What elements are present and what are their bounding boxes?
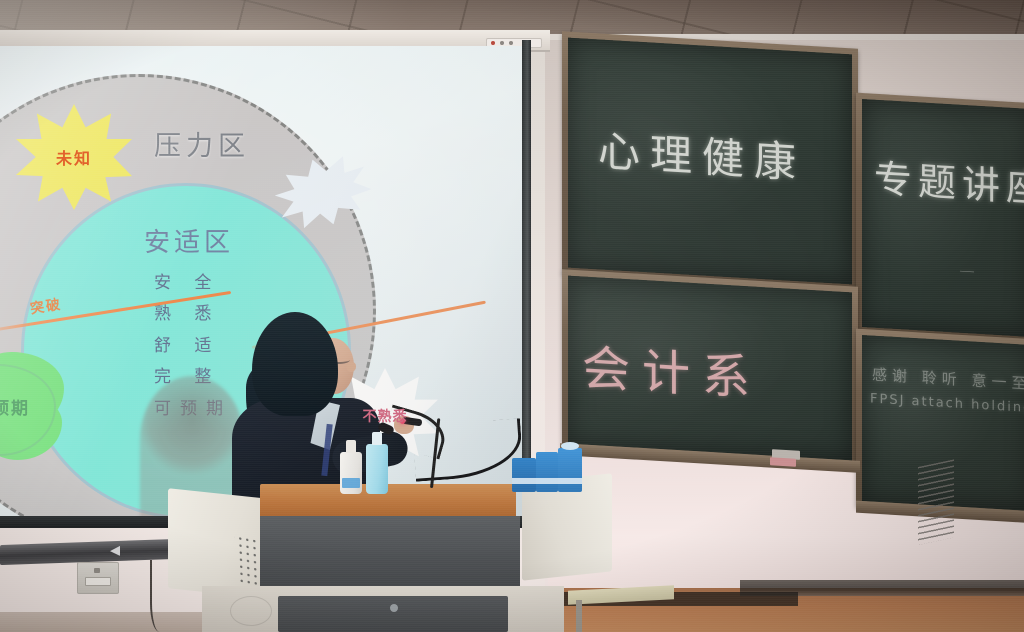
chalk-text-mental-health: 心理健康 bbox=[598, 117, 806, 190]
box-stripe bbox=[536, 478, 558, 484]
screen-right-border bbox=[522, 40, 531, 524]
lectern-drawer[interactable] bbox=[278, 596, 508, 632]
lectern-emblem bbox=[230, 596, 272, 626]
blackboard-bottom-left: 会计系 bbox=[568, 276, 852, 461]
blackboard-top-right: 专题讲座 ＿ bbox=[862, 99, 1024, 337]
blackboard-top-left: 心理健康 bbox=[568, 38, 852, 285]
star-unknown-label: 未知 bbox=[56, 145, 92, 169]
box-stripe bbox=[558, 478, 582, 484]
power-indicator-icon bbox=[491, 41, 495, 45]
chalk-piece[interactable] bbox=[770, 457, 796, 467]
outlet-switch-icon bbox=[94, 568, 100, 573]
outlet-socket-icon bbox=[85, 577, 111, 586]
lectern-front-panel bbox=[260, 516, 520, 588]
lectern bbox=[144, 470, 624, 632]
wipe-box-3[interactable] bbox=[558, 448, 582, 492]
classroom-scene: 压力区 安适区 安 全 熟 悉 舒 适 完 整 可预期 未知 不熟悉 bbox=[0, 0, 1024, 632]
lectern-wood-top bbox=[260, 484, 516, 518]
chalk-text-accounting-department: 会计系 bbox=[582, 328, 762, 409]
stress-zone-label: 压力区 bbox=[154, 124, 250, 163]
bottle-cap-icon bbox=[372, 432, 382, 445]
chalk-faint-line-2: FPSJ attach holding bbox=[870, 391, 1024, 416]
chalk-text-special-lecture: 专题讲座 bbox=[874, 148, 1024, 213]
vent-grille-icon bbox=[918, 459, 954, 545]
cloud-label: 可能 预期 bbox=[0, 397, 30, 423]
wipe-box-1[interactable] bbox=[512, 458, 536, 492]
sanitizer-bottle-blue[interactable] bbox=[366, 444, 388, 494]
up-indicator-icon bbox=[500, 41, 504, 45]
wall-outlet-panel[interactable] bbox=[77, 562, 119, 594]
chalk-faint-line-1: 感谢 聆听 意一至 bbox=[872, 364, 1024, 394]
hair bbox=[252, 312, 338, 416]
sanitizer-bottle-white[interactable] bbox=[340, 452, 362, 494]
wipe-box-2[interactable] bbox=[536, 452, 558, 492]
drawer-lock-icon[interactable] bbox=[390, 604, 398, 612]
bottle-label bbox=[342, 478, 360, 488]
starburst-unknown: 未知 bbox=[16, 104, 132, 210]
bottle-cap-icon bbox=[346, 440, 356, 453]
box-stripe bbox=[512, 478, 536, 484]
comfort-zone-label: 安适区 bbox=[144, 222, 234, 259]
chalk-underline-mark: ＿ bbox=[960, 255, 974, 276]
comfort-attr-3: 舒 适 bbox=[154, 331, 232, 362]
down-indicator-icon bbox=[509, 41, 513, 45]
star-unfamiliar-label: 不熟悉 bbox=[363, 406, 408, 426]
nose bbox=[346, 362, 356, 372]
